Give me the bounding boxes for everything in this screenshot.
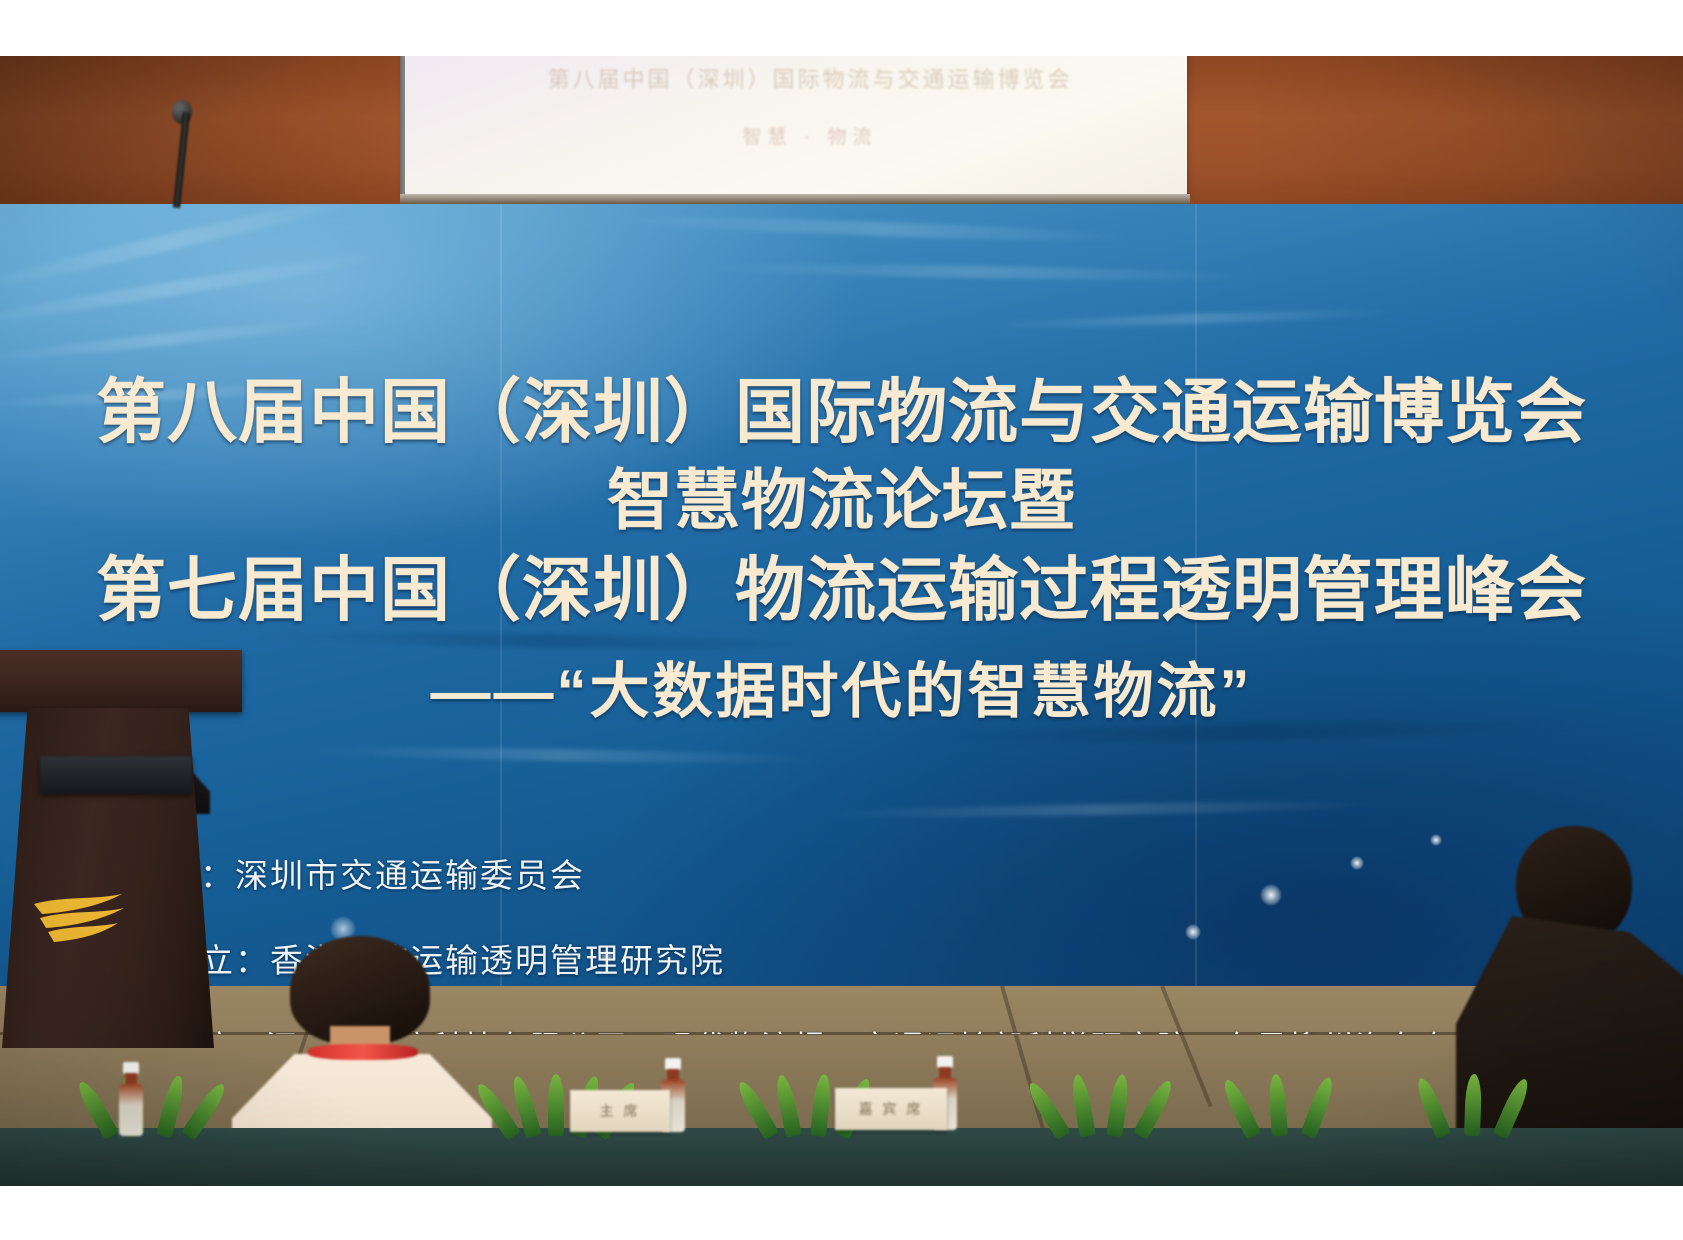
event-backdrop-banner: 第八届中国（深圳）国际物流与交通运输博览会 智慧物流论坛暨 第七届中国（深圳）物… <box>0 204 1683 1034</box>
organizer-line-1: ：深圳市交通运输委员会 <box>200 849 585 897</box>
bokeh-dot <box>1260 884 1282 906</box>
slide-subtitle-text: 智慧 · 物流 <box>465 122 1155 149</box>
banner-headline-line-1: 第八届中国（深圳）国际物流与交通运输博览会 <box>0 374 1683 450</box>
water-bottle <box>118 1062 144 1136</box>
bokeh-dot <box>1430 834 1442 846</box>
fabric-wrinkle <box>980 307 1400 332</box>
fabric-wrinkle <box>250 629 850 653</box>
gold-swoosh-logo-icon <box>30 890 130 946</box>
podium-laptop <box>40 756 192 794</box>
banner-headline-line-2: 智慧物流论坛暨 <box>0 464 1683 536</box>
attendee-lanyard <box>308 1044 418 1060</box>
letterbox-band-bottom <box>0 1186 1683 1240</box>
table-plant <box>1050 1072 1170 1136</box>
screenshot-canvas: 第八届中国（深圳）国际物流与交通运输博览会 智慧 · 物流 <box>0 0 1683 1240</box>
banner-headline-line-3: 第七届中国（深圳）物流运输过程透明管理峰会 <box>0 552 1683 628</box>
slide-title-text: 第八届中国（深圳）国际物流与交通运输博览会 <box>465 62 1155 94</box>
podium-top-surface <box>0 650 242 712</box>
table-name-card: 主 席 <box>570 1090 670 1132</box>
table-plant <box>1430 1078 1530 1136</box>
name-card-text: 嘉 宾 席 <box>859 1099 924 1119</box>
fabric-wrinkle <box>620 213 1140 245</box>
speaker-podium <box>0 650 242 1046</box>
banner-subtitle: ——“大数据时代的智慧物流” <box>0 659 1683 725</box>
fabric-wrinkle <box>820 799 1380 820</box>
conference-table <box>0 1128 1683 1186</box>
conference-photo: 第八届中国（深圳）国际物流与交通运输博览会 智慧 · 物流 <box>0 56 1683 1186</box>
table-name-card: 嘉 宾 席 <box>835 1088 947 1130</box>
fabric-wrinkle <box>0 314 350 366</box>
table-plant <box>1240 1076 1340 1136</box>
projection-screen: 第八届中国（深圳）国际物流与交通运输博览会 智慧 · 物流 <box>405 56 1187 196</box>
bokeh-dot <box>1185 924 1201 940</box>
name-card-text: 主 席 <box>600 1101 641 1121</box>
fabric-wrinkle <box>700 261 1260 283</box>
screen-frame-bottom <box>400 194 1190 204</box>
bokeh-dot <box>1350 856 1364 870</box>
letterbox-band-top <box>0 0 1683 56</box>
table-plant <box>100 1072 210 1136</box>
fabric-wrinkle <box>300 744 820 765</box>
